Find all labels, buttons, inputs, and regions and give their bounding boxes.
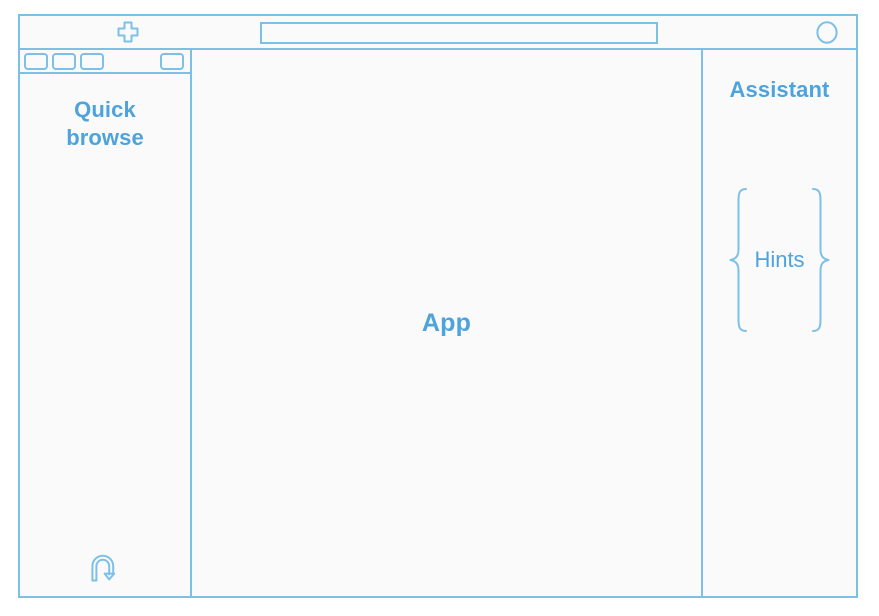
quick-browse-title-line-1: Quick [20,96,190,124]
plus-icon [115,20,141,46]
window-body: Quick browse App [20,50,856,596]
u-turn-arrow-icon [88,554,122,584]
new-tab-button[interactable] [98,17,158,48]
sidebar-tool-button-3[interactable] [80,53,104,70]
hints-block: Hints [703,185,856,335]
sidebar-content: Quick browse [20,74,190,596]
address-bar-input[interactable] [260,22,658,44]
app-area-label: App [422,309,471,338]
sidebar-panel: Quick browse [20,50,192,596]
account-avatar-button[interactable] [816,21,838,44]
circle-avatar-icon [816,21,838,44]
right-curly-brace-icon [809,187,831,333]
sidebar-tool-button-2[interactable] [52,53,76,70]
assistant-title: Assistant [703,77,856,103]
history-back-button[interactable] [88,554,122,584]
app-content-area[interactable]: App [192,50,703,596]
quick-browse-title-line-2: browse [20,124,190,152]
assistant-panel: Assistant Hints [703,50,856,596]
hints-label: Hints [750,247,808,273]
sidebar-toolbar [20,50,190,74]
left-curly-brace-icon [728,187,750,333]
sidebar-tool-button-4[interactable] [160,53,184,70]
sidebar-tool-button-1[interactable] [24,53,48,70]
quick-browse-title: Quick browse [20,96,190,152]
browser-window-frame: Quick browse App [18,14,858,598]
browser-top-bar [20,16,856,50]
